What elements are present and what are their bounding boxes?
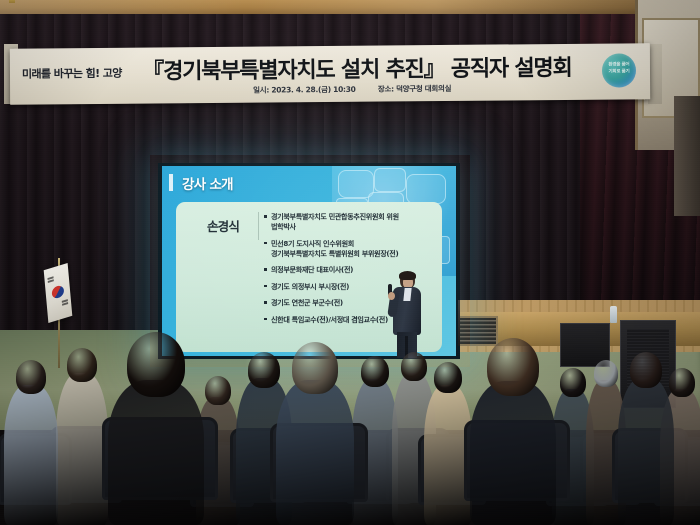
audience-head <box>594 360 618 387</box>
audience-head <box>16 360 46 394</box>
audience-head <box>487 338 539 396</box>
audience-head <box>67 348 97 382</box>
audience-member <box>4 360 58 525</box>
audience-torso <box>276 380 354 525</box>
audience-torso <box>470 381 556 525</box>
audience-member <box>470 338 556 525</box>
audience-head <box>205 376 231 405</box>
audience-torso <box>618 378 674 525</box>
audience-head <box>560 368 586 397</box>
audience-head <box>630 352 662 388</box>
seminar-photo: 미래를 바꾸는 힘! 고양 『경기북부특별자치도 설치 추진』 공직자 설명회 … <box>0 0 700 525</box>
audience-head <box>361 356 389 387</box>
audience-torso <box>56 373 108 525</box>
audience-member <box>618 352 674 525</box>
audience-torso <box>4 385 58 525</box>
audience-head <box>292 342 338 394</box>
audience <box>0 0 700 525</box>
audience-member <box>108 332 204 525</box>
audience-head <box>434 362 462 393</box>
audience-member <box>276 342 354 525</box>
audience-head <box>127 332 185 397</box>
audience-member <box>56 348 108 525</box>
audience-torso <box>108 380 204 525</box>
